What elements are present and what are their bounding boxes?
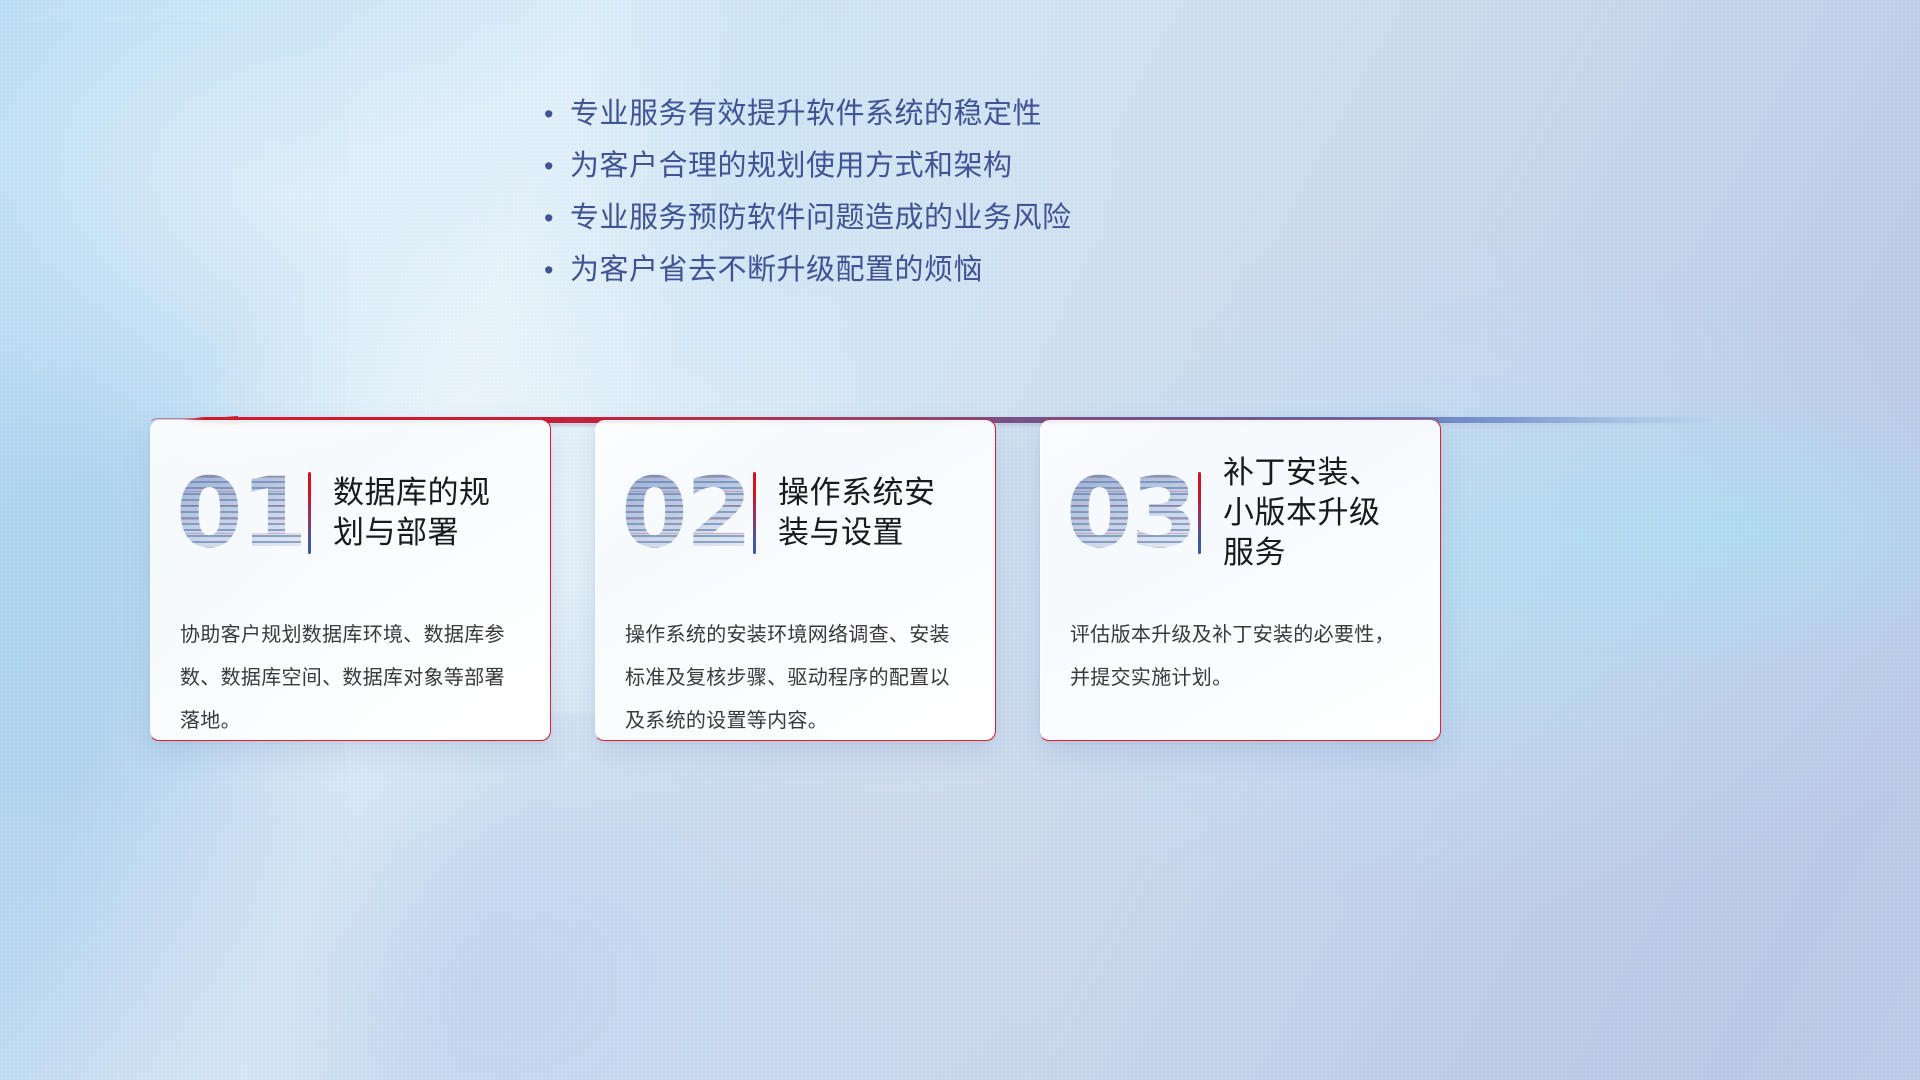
card-header: 02 操作系统安装与设置 bbox=[621, 454, 963, 572]
bullet-item: • 为客户省去不断升级配置的烦恼 bbox=[540, 244, 1360, 296]
bullet-dot-icon: • bbox=[540, 244, 570, 296]
bullet-item: • 专业服务有效提升软件系统的稳定性 bbox=[540, 88, 1360, 140]
bullet-item: • 为客户合理的规划使用方式和架构 bbox=[540, 140, 1360, 192]
bullet-dot-icon: • bbox=[540, 192, 570, 244]
card-title: 操作系统安装与设置 bbox=[778, 473, 963, 554]
bullet-text: 专业服务有效提升软件系统的稳定性 bbox=[570, 88, 1042, 140]
card-number-02: 02 bbox=[621, 463, 747, 563]
benefits-bullet-list: • 专业服务有效提升软件系统的稳定性 • 为客户合理的规划使用方式和架构 • 专… bbox=[540, 88, 1360, 296]
bullet-text: 为客户省去不断升级配置的烦恼 bbox=[570, 244, 983, 296]
card-divider-bar bbox=[1198, 472, 1201, 554]
service-card-01[interactable]: 01 数据库的规划与部署 协助客户规划数据库环境、数据库参数、数据库空间、数据库… bbox=[150, 420, 550, 740]
card-title: 补丁安装、小版本升级服务 bbox=[1223, 453, 1408, 574]
card-body-text: 评估版本升级及补丁安装的必要性，并提交实施计划。 bbox=[1066, 614, 1408, 700]
bullet-dot-icon: • bbox=[540, 88, 570, 140]
card-number-03: 03 bbox=[1066, 463, 1192, 563]
bullet-dot-icon: • bbox=[540, 140, 570, 192]
card-body-text: 操作系统的安装环境网络调查、安装标准及复核步骤、驱动程序的配置以及系统的设置等内… bbox=[621, 614, 963, 744]
card-title: 数据库的规划与部署 bbox=[333, 473, 518, 554]
card-header: 03 补丁安装、小版本升级服务 bbox=[1066, 454, 1408, 572]
bullet-item: • 专业服务预防软件问题造成的业务风险 bbox=[540, 192, 1360, 244]
bullet-text: 为客户合理的规划使用方式和架构 bbox=[570, 140, 1013, 192]
card-divider-bar bbox=[308, 472, 311, 554]
card-divider-bar bbox=[753, 472, 756, 554]
service-card-03[interactable]: 03 补丁安装、小版本升级服务 评估版本升级及补丁安装的必要性，并提交实施计划。 bbox=[1040, 420, 1440, 740]
service-cards-row: 01 数据库的规划与部署 协助客户规划数据库环境、数据库参数、数据库空间、数据库… bbox=[150, 420, 1770, 920]
bullet-text: 专业服务预防软件问题造成的业务风险 bbox=[570, 192, 1072, 244]
card-body-text: 协助客户规划数据库环境、数据库参数、数据库空间、数据库对象等部署落地。 bbox=[176, 614, 518, 744]
service-card-02[interactable]: 02 操作系统安装与设置 操作系统的安装环境网络调查、安装标准及复核步骤、驱动程… bbox=[595, 420, 995, 740]
card-number-01: 01 bbox=[176, 463, 302, 563]
card-header: 01 数据库的规划与部署 bbox=[176, 454, 518, 572]
